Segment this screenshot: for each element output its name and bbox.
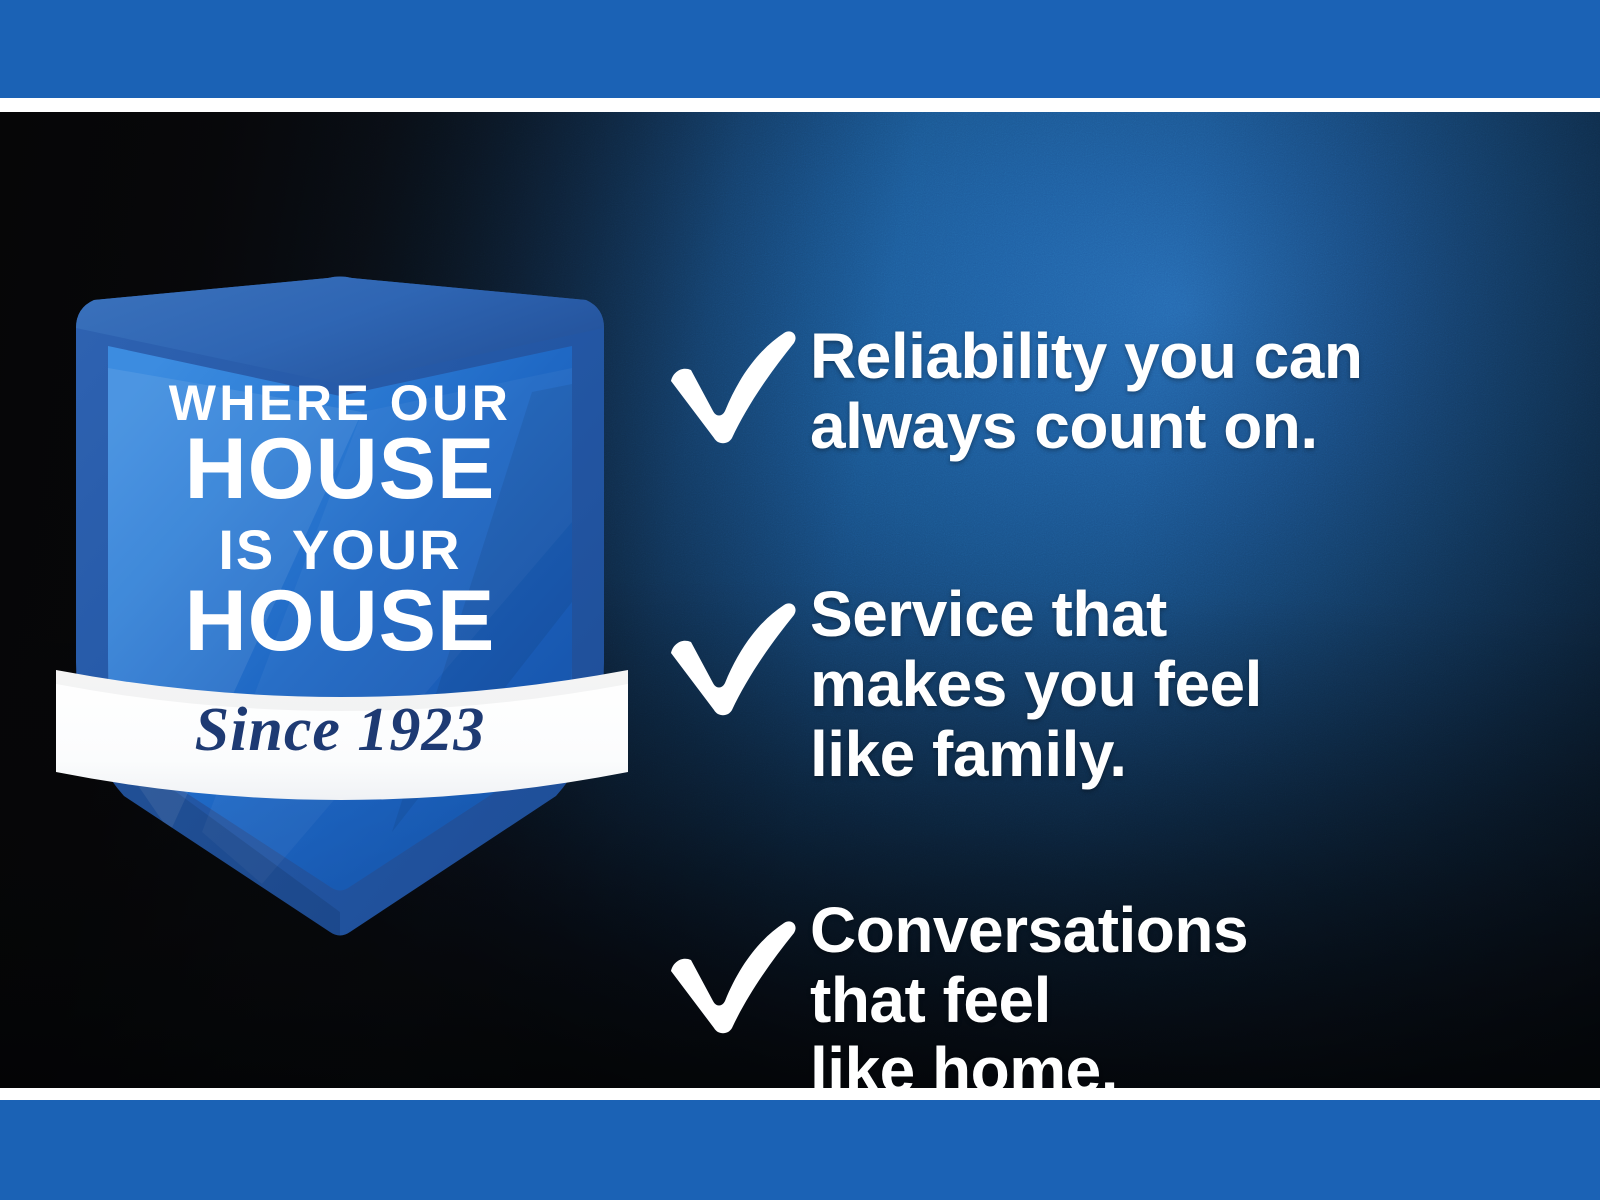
top-accent-bar [0,0,1600,98]
list-item-text: Service that makes you feel like family. [810,580,1540,789]
company-logo: WHERE OUR HOUSE IS YOUR HOUSE Since 1923 [62,272,622,952]
benefits-list: Reliability you can always count on. Ser… [660,224,1540,1088]
check-icon [660,322,810,444]
logo-line-4: HOUSE [185,573,496,669]
logo-line-2: HOUSE [185,421,496,517]
promotional-banner: WHERE OUR HOUSE IS YOUR HOUSE Since 1923 [0,0,1600,1200]
check-icon [660,580,810,716]
list-item-text: Reliability you can always count on. [810,322,1540,462]
logo-line-3: IS YOUR [218,518,461,581]
list-item: Service that makes you feel like family. [660,580,1540,789]
list-item-text: Conversations that feel like home. [810,896,1540,1088]
logo-lettering: WHERE OUR HOUSE IS YOUR HOUSE [169,375,512,669]
main-stage: WHERE OUR HOUSE IS YOUR HOUSE Since 1923 [0,112,1600,1088]
bottom-accent-bar [0,1100,1600,1200]
list-item: Conversations that feel like home. [660,896,1540,1088]
list-item: Reliability you can always count on. [660,322,1540,462]
check-icon [660,896,810,1034]
since-banner-text: Since 1923 [195,696,486,764]
